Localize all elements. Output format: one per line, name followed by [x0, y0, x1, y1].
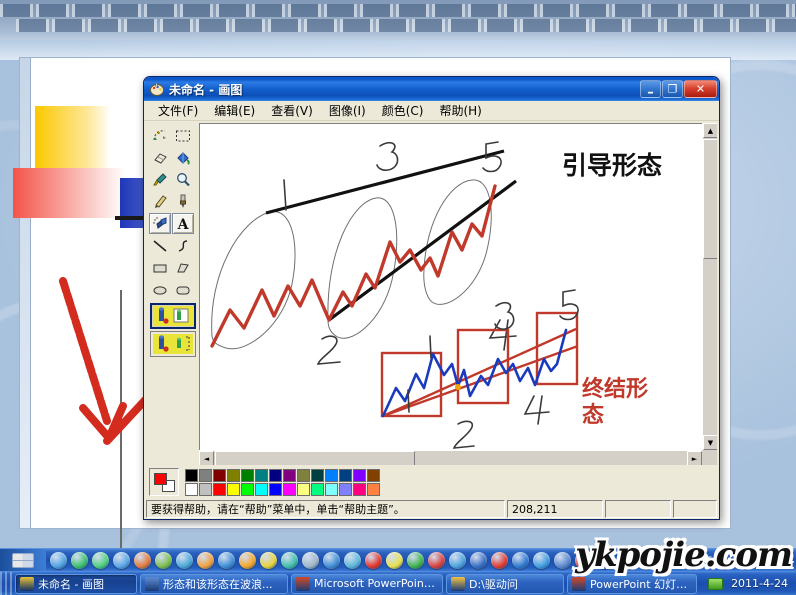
maximize-glyph: ❐	[668, 84, 678, 95]
palette-swatch-top-3[interactable]	[227, 469, 240, 482]
paint-window-title: 未命名 - 画图	[169, 81, 242, 98]
brush-tool[interactable]	[172, 191, 194, 212]
wave-label-2	[318, 336, 340, 364]
tray-my-computer-label[interactable]: 我的电脑	[680, 552, 724, 568]
taskbar-drag-handle[interactable]	[0, 572, 12, 595]
canvas-horizontal-scrollbar[interactable]: ◄ ►	[199, 450, 702, 465]
palette-swatch-bottom-5[interactable]	[255, 483, 268, 496]
pencil-oval-2	[328, 198, 397, 338]
fill-tool[interactable]	[172, 147, 194, 168]
palette-swatch-bottom-2[interactable]	[213, 483, 226, 496]
paint-window[interactable]: 未命名 - 画图 – ❐ ✕ 文件(F) 编辑(E) 查看(V) 图像(I) 颜…	[143, 76, 720, 520]
quicklaunch-icon-23[interactable]	[512, 552, 529, 569]
palette-swatch-top-4[interactable]	[241, 469, 254, 482]
paint-workarea: A	[144, 121, 719, 467]
palette-swatch-top-2[interactable]	[213, 469, 226, 482]
palette-swatch-top-1[interactable]	[199, 469, 212, 482]
tray-icon-3[interactable]	[775, 555, 790, 566]
quicklaunch-icon-26[interactable]	[575, 552, 592, 569]
wave-label-2-b	[454, 421, 474, 448]
curve-tool[interactable]	[172, 235, 194, 256]
palette-swatch-top-13[interactable]	[367, 469, 380, 482]
pencil-oval-1	[212, 212, 295, 349]
taskbtn-paint-label: 未命名 - 画图	[38, 576, 104, 592]
quicklaunch-icon-10[interactable]	[239, 552, 256, 569]
taskbtn-explorer-doc[interactable]: 形态和该形态在波浪...	[140, 574, 288, 594]
palette-swatch-bottom-3[interactable]	[227, 483, 240, 496]
red-box-2	[458, 330, 508, 403]
palette-swatch-grid[interactable]	[185, 469, 380, 496]
quicklaunch-icon-14[interactable]	[323, 552, 340, 569]
paint-titlebar[interactable]: 未命名 - 画图 – ❐ ✕	[144, 77, 719, 101]
minimize-button[interactable]: –	[640, 80, 661, 98]
palette-swatch-bottom-10[interactable]	[325, 483, 338, 496]
tray-icon-1[interactable]	[735, 555, 750, 566]
taskbtn-powerpoint-show[interactable]: PowerPoint 幻灯片...	[567, 574, 697, 594]
quicklaunch-icon-27[interactable]	[596, 552, 613, 569]
quicklaunch-icon-29[interactable]	[638, 552, 655, 569]
band-fade	[0, 34, 796, 60]
tool-options-box-secondary[interactable]	[150, 331, 196, 357]
palette-swatch-bottom-0[interactable]	[185, 483, 198, 496]
tray-icon-2[interactable]	[755, 555, 770, 566]
quicklaunch-icon-20[interactable]	[449, 552, 466, 569]
quick-launch-icons[interactable]	[46, 552, 655, 569]
quicklaunch-icon-2[interactable]	[71, 552, 88, 569]
paint-toolbox[interactable]: A	[146, 123, 197, 339]
menu-edit[interactable]: 编辑(E)	[206, 101, 263, 120]
palette-swatch-top-12[interactable]	[353, 469, 366, 482]
foreground-color-chip[interactable]	[154, 473, 167, 485]
airbrush-tool[interactable]	[149, 213, 171, 234]
quicklaunch-icon-21[interactable]	[470, 552, 487, 569]
paint-palette-icon	[149, 81, 165, 97]
palette-swatch-bottom-6[interactable]	[269, 483, 282, 496]
scroll-down-button[interactable]: ▼	[703, 435, 717, 450]
vertical-scroll-thumb[interactable]	[703, 139, 717, 259]
rectangle-select-tool[interactable]	[172, 125, 194, 146]
status-size	[605, 500, 671, 518]
slide-yellow-block	[35, 106, 111, 168]
tool-options-box-primary[interactable]	[150, 303, 196, 329]
scroll-up-button[interactable]: ▲	[703, 123, 717, 138]
top-chart-title: 引导形态	[562, 151, 662, 180]
color-palette[interactable]	[146, 467, 717, 497]
taskbtn-folder-icon	[451, 577, 465, 591]
quicklaunch-icon-6[interactable]	[155, 552, 172, 569]
taskbar-clock[interactable]: 2011-4-24	[731, 577, 788, 590]
foreground-background-color-swatch[interactable]	[149, 468, 179, 496]
brick-row	[0, 4, 796, 17]
wave-label-4-b	[525, 396, 549, 424]
elliott-wave-sketch: 引导形态	[200, 124, 707, 451]
quicklaunch-icon-25[interactable]	[554, 552, 571, 569]
text-tool[interactable]: A	[172, 213, 194, 234]
taskbar-window-buttons[interactable]: 未命名 - 画图形态和该形态在波浪...Microsoft PowerPoint…	[0, 571, 796, 595]
quicklaunch-icon-1[interactable]	[50, 552, 67, 569]
taskbtn-powerpoint[interactable]: Microsoft PowerPoint -...	[291, 574, 443, 594]
quicklaunch-icon-17[interactable]	[386, 552, 403, 569]
taskbtn-paint[interactable]: 未命名 - 画图	[15, 574, 137, 594]
wave-label-5	[483, 142, 501, 172]
palette-swatch-top-10[interactable]	[325, 469, 338, 482]
paint-statusbar: 要获得帮助，请在“帮助”菜单中，单击“帮助主题”。 208,211	[144, 499, 719, 519]
system-tray[interactable]: 我的电脑	[680, 552, 796, 568]
brick-row	[16, 19, 796, 32]
free-form-select-tool[interactable]	[149, 125, 171, 146]
wave-label-extra	[408, 390, 409, 412]
eraser-tool[interactable]	[149, 147, 171, 168]
bottom-chart-title-line1: 终结形	[582, 376, 648, 402]
screen-root: 态 未命名 - 画图 –	[0, 0, 796, 595]
menu-help[interactable]: 帮助(H)	[431, 101, 489, 120]
pivot-dot	[455, 384, 461, 390]
slide-red-block	[13, 168, 125, 218]
palette-swatch-top-5[interactable]	[255, 469, 268, 482]
palette-swatch-top-9[interactable]	[311, 469, 324, 482]
palette-swatch-top-0[interactable]	[185, 469, 198, 482]
quicklaunch-icon-15[interactable]	[344, 552, 361, 569]
windows-flag-icon	[12, 553, 34, 568]
taskbtn-powerpoint-show-label: PowerPoint 幻灯片...	[590, 576, 689, 592]
status-hint-text: 要获得帮助，请在“帮助”菜单中，单击“帮助主题”。	[146, 500, 505, 518]
red-wave-path	[212, 186, 495, 346]
taskbtn-explorer-doc-label: 形态和该形态在波浪...	[163, 576, 273, 592]
wave-label-5-b	[560, 290, 578, 320]
palette-swatch-bottom-1[interactable]	[199, 483, 212, 496]
channel-lower-line	[329, 181, 516, 320]
palette-swatch-top-7[interactable]	[283, 469, 296, 482]
paint-canvas[interactable]: 引导形态	[200, 124, 707, 451]
quicklaunch-icon-5[interactable]	[134, 552, 151, 569]
taskbtn-powerpoint-icon	[296, 577, 310, 591]
window-resize-grip[interactable]	[702, 450, 717, 465]
quicklaunch-icon-3[interactable]	[92, 552, 109, 569]
quicklaunch-icon-16[interactable]	[365, 552, 382, 569]
close-glyph: ✕	[696, 84, 705, 95]
menu-image[interactable]: 图像(I)	[321, 101, 374, 120]
close-button[interactable]: ✕	[684, 80, 717, 98]
quicklaunch-icon-11[interactable]	[260, 552, 277, 569]
palette-swatch-top-8[interactable]	[297, 469, 310, 482]
pencil-tool[interactable]	[149, 191, 171, 212]
svg-text:A: A	[177, 217, 190, 231]
menu-file[interactable]: 文件(F)	[150, 101, 206, 120]
paint-menubar[interactable]: 文件(F) 编辑(E) 查看(V) 图像(I) 颜色(C) 帮助(H)	[144, 101, 719, 121]
palette-swatch-top-6[interactable]	[269, 469, 282, 482]
taskbtn-explorer-doc-icon	[145, 577, 159, 591]
menu-view[interactable]: 查看(V)	[263, 101, 321, 120]
taskbar-clock-area[interactable]: 2011-4-24	[708, 577, 796, 590]
taskbar-button-list[interactable]: 未命名 - 画图形态和该形态在波浪...Microsoft PowerPoint…	[12, 574, 697, 594]
quicklaunch-icon-4[interactable]	[113, 552, 130, 569]
bottom-chart-title-line2: 态	[582, 402, 604, 428]
wave-label-1-b	[430, 336, 431, 358]
palette-swatch-bottom-4[interactable]	[241, 483, 254, 496]
ellipse-tool[interactable]	[149, 279, 171, 300]
quicklaunch-icon-9[interactable]	[218, 552, 235, 569]
canvas-vertical-scrollbar[interactable]: ▲ ▼	[702, 123, 717, 450]
quicklaunch-icon-8[interactable]	[197, 552, 214, 569]
minimize-glyph: –	[647, 86, 654, 99]
palette-swatch-bottom-12[interactable]	[353, 483, 366, 496]
maximize-button[interactable]: ❐	[662, 80, 683, 98]
start-button[interactable]	[0, 549, 46, 572]
quicklaunch-icon-18[interactable]	[407, 552, 424, 569]
taskbtn-folder-label: D:\驱动问	[469, 576, 518, 592]
taskbar[interactable]: 我的电脑 未命名 - 画图形态和该形态在波浪...Microsoft Power…	[0, 548, 796, 595]
paint-canvas-area[interactable]: 引导形态	[199, 123, 717, 465]
palette-swatch-bottom-13[interactable]	[367, 483, 380, 496]
quicklaunch-icon-19[interactable]	[428, 552, 445, 569]
palette-swatch-bottom-7[interactable]	[283, 483, 296, 496]
palette-swatch-bottom-9[interactable]	[311, 483, 324, 496]
rounded-rectangle-tool[interactable]	[172, 279, 194, 300]
quicklaunch-icon-7[interactable]	[176, 552, 193, 569]
polygon-tool[interactable]	[172, 257, 194, 278]
status-coordinates: 208,211	[507, 500, 603, 518]
tray-notifier-icon[interactable]	[708, 578, 723, 590]
taskbtn-folder[interactable]: D:\驱动问	[446, 574, 564, 594]
slide-left-stripe	[20, 58, 31, 528]
scroll-left-button[interactable]: ◄	[199, 451, 214, 465]
quick-launch-bar[interactable]: 我的电脑	[0, 548, 796, 571]
quicklaunch-icon-12[interactable]	[281, 552, 298, 569]
taskbtn-powerpoint-show-icon	[572, 577, 586, 591]
scroll-right-button[interactable]: ►	[687, 451, 702, 465]
taskbtn-powerpoint-label: Microsoft PowerPoint -...	[314, 577, 435, 590]
line-tool[interactable]	[149, 235, 171, 256]
quicklaunch-icon-13[interactable]	[302, 552, 319, 569]
channel-upper-line	[266, 151, 504, 213]
taskbtn-paint-icon	[20, 577, 34, 591]
quicklaunch-icon-24[interactable]	[533, 552, 550, 569]
palette-swatch-top-11[interactable]	[339, 469, 352, 482]
color-picker-tool[interactable]	[149, 169, 171, 190]
palette-swatch-bottom-11[interactable]	[339, 483, 352, 496]
wave-label-3	[377, 143, 398, 171]
quicklaunch-icon-22[interactable]	[491, 552, 508, 569]
horizontal-scroll-thumb[interactable]	[215, 451, 415, 465]
status-extra	[673, 500, 717, 518]
wave-label-1	[284, 180, 286, 210]
magnifier-tool[interactable]	[172, 169, 194, 190]
rectangle-tool[interactable]	[149, 257, 171, 278]
quicklaunch-icon-28[interactable]	[617, 552, 634, 569]
palette-swatch-bottom-8[interactable]	[297, 483, 310, 496]
menu-colors[interactable]: 颜色(C)	[374, 101, 432, 120]
